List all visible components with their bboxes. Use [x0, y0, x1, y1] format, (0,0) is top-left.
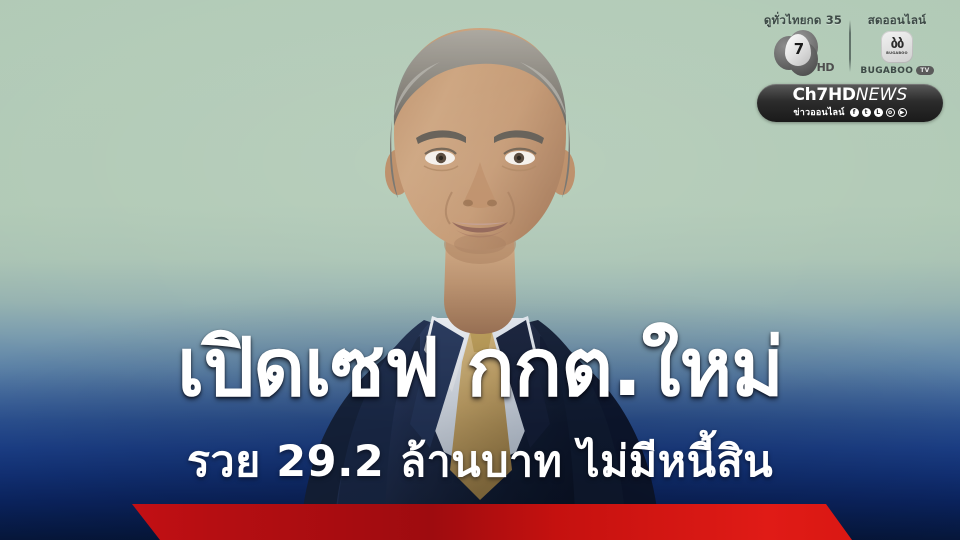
ch7hd-logo-icon: 7 HD — [772, 30, 834, 74]
facebook-icon[interactable]: f — [850, 108, 859, 117]
headline-primary: เปิดเซฟ กกต.ใหม่ — [0, 326, 960, 410]
bugaboo-inner-wordmark: BUGABOO — [886, 51, 908, 55]
broadcaster-branding: ดูทั่วไทยกด 35 7 HD สดออนไลน์ ბბ BUGABOO — [752, 14, 948, 122]
ch7hd-news-pill: Ch7HDNEWS ข่าวออนไลน์ f t L o ▶ — [757, 84, 943, 122]
news-graphic-canvas: ดูทั่วไทยกด 35 7 HD สดออนไลน์ ბბ BUGABOO — [0, 0, 960, 540]
line-icon[interactable]: L — [874, 108, 883, 117]
social-icon-row: f t L o ▶ — [850, 108, 907, 117]
instagram-icon[interactable]: o — [886, 108, 895, 117]
bugaboo-logo-icon: ბბ BUGABOO — [881, 31, 913, 63]
youtube-icon[interactable]: ▶ — [898, 108, 907, 117]
news-wordmark: Ch7HDNEWS — [792, 86, 907, 104]
channel-block: ดูทั่วไทยกด 35 7 HD — [757, 14, 849, 74]
bugaboo-wordmark: BUGABOO — [860, 66, 913, 76]
news-subtitle: ข่าวออนไลน์ — [793, 105, 844, 119]
news-wordmark-italic: NEWS — [856, 85, 908, 105]
live-block: สดออนไลน์ ბბ BUGABOO BUGABOO TV — [851, 14, 943, 76]
bugaboo-tv-badge: TV — [916, 66, 933, 75]
twitter-icon[interactable]: t — [862, 108, 871, 117]
headline-secondary: รวย 29.2 ล้านบาท ไม่มีหนี้สิน — [0, 437, 960, 487]
channel-number: 7 — [791, 41, 807, 57]
channel-caption: ดูทั่วไทยกด 35 — [764, 14, 842, 27]
news-subline: ข่าวออนไลน์ f t L o ▶ — [793, 105, 906, 119]
live-caption: สดออนไลน์ — [868, 14, 926, 27]
news-wordmark-bold: Ch7HD — [792, 85, 855, 105]
hd-badge: HD — [817, 61, 834, 74]
bugaboo-eyes-glyph: ბბ — [891, 39, 904, 50]
